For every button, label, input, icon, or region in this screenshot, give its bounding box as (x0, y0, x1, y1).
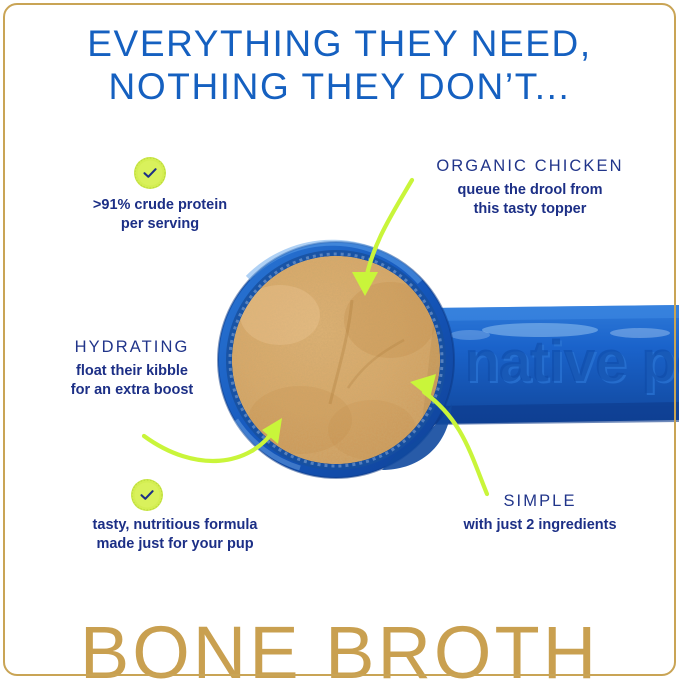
callout-hydrating: HYDRATING float their kibble for an extr… (12, 336, 252, 400)
page-title: EVERYTHING THEY NEED, NOTHING THEY DON’T… (0, 22, 679, 108)
handle-brand-text: native pe (466, 331, 679, 396)
powder-fill (232, 256, 470, 464)
product-infographic-card: EVERYTHING THEY NEED, NOTHING THEY DON’T… (0, 0, 679, 679)
callout-protein: >91% crude protein per serving (30, 196, 290, 234)
callout-simple-title: SIMPLE (420, 490, 660, 512)
callout-hydrating-title: HYDRATING (12, 336, 252, 358)
callout-protein-text: >91% crude protein per serving (30, 196, 290, 234)
check-badge-icon (133, 156, 167, 190)
callout-organic-chicken-text: queue the drool from this tasty topper (395, 181, 665, 219)
scoop-rim-speckle (230, 254, 442, 466)
callout-tasty-formula: tasty, nutritious formula made just for … (25, 516, 325, 554)
scoop-bowl (218, 242, 454, 478)
svg-text:native pe: native pe (464, 329, 679, 394)
scoop-handle: native pe native pe (430, 305, 679, 425)
callout-simple: SIMPLE with just 2 ingredients (420, 490, 660, 535)
callout-organic-chicken-title: ORGANIC CHICKEN (395, 155, 665, 177)
callout-hydrating-text: float their kibble for an extra boost (12, 362, 252, 400)
callout-organic-chicken: ORGANIC CHICKEN queue the drool from thi… (395, 155, 665, 219)
product-name-banner: BONE BROTH (0, 613, 679, 679)
scoop-inner-shadow (382, 404, 452, 470)
callout-tasty-formula-text: tasty, nutritious formula made just for … (25, 516, 325, 554)
callout-simple-text: with just 2 ingredients (420, 516, 660, 535)
arrow-heads (262, 272, 436, 444)
check-badge-icon (130, 478, 164, 512)
